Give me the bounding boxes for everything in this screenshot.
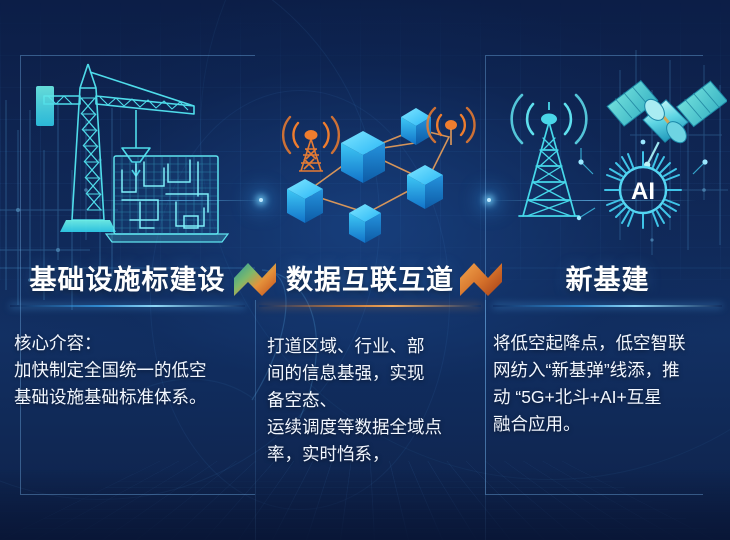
title-divider-mid bbox=[259, 305, 481, 307]
title-divider-right bbox=[493, 305, 722, 307]
network-nodes-illustration bbox=[267, 85, 477, 245]
column-body-right: 将低空起降点，低空智联 网纺入“新基弹”线添，推 动 “5G+北斗+AI+互星 … bbox=[493, 330, 725, 438]
construction-crane-illustration bbox=[18, 52, 248, 252]
tower-satellite-ai-illustration: AI bbox=[497, 62, 727, 242]
column-body-mid: 打道区域、行业、部 间的信息基强，实现 备空态、 运续调度等数据全域点 率，实时… bbox=[267, 333, 481, 468]
title-divider-left bbox=[10, 305, 245, 307]
column-title-mid: 数据互联互道 bbox=[255, 258, 485, 297]
column-title-right: 新基建 bbox=[485, 258, 730, 297]
column-new-infrastructure: AI 新基建 将低空起降点，低空智联 网纺入“新基弹”线添，推 动 “5G+北斗… bbox=[485, 0, 730, 540]
column-infrastructure: 基础设施标建设 核心介容： 加快制定全国统一的低空 基础设施基础标准体系。 bbox=[0, 0, 255, 540]
ai-badge-label: AI bbox=[631, 178, 655, 205]
column-body-left: 核心介容： 加快制定全国统一的低空 基础设施基础标准体系。 bbox=[14, 330, 246, 411]
column-title-left: 基础设施标建设 bbox=[0, 258, 255, 297]
infographic-canvas: 基础设施标建设 核心介容： 加快制定全国统一的低空 基础设施基础标准体系。 bbox=[0, 0, 730, 540]
column-data-interconnect: 数据互联互道 打道区域、行业、部 间的信息基强，实现 备空态、 运续调度等数据全… bbox=[255, 0, 485, 540]
